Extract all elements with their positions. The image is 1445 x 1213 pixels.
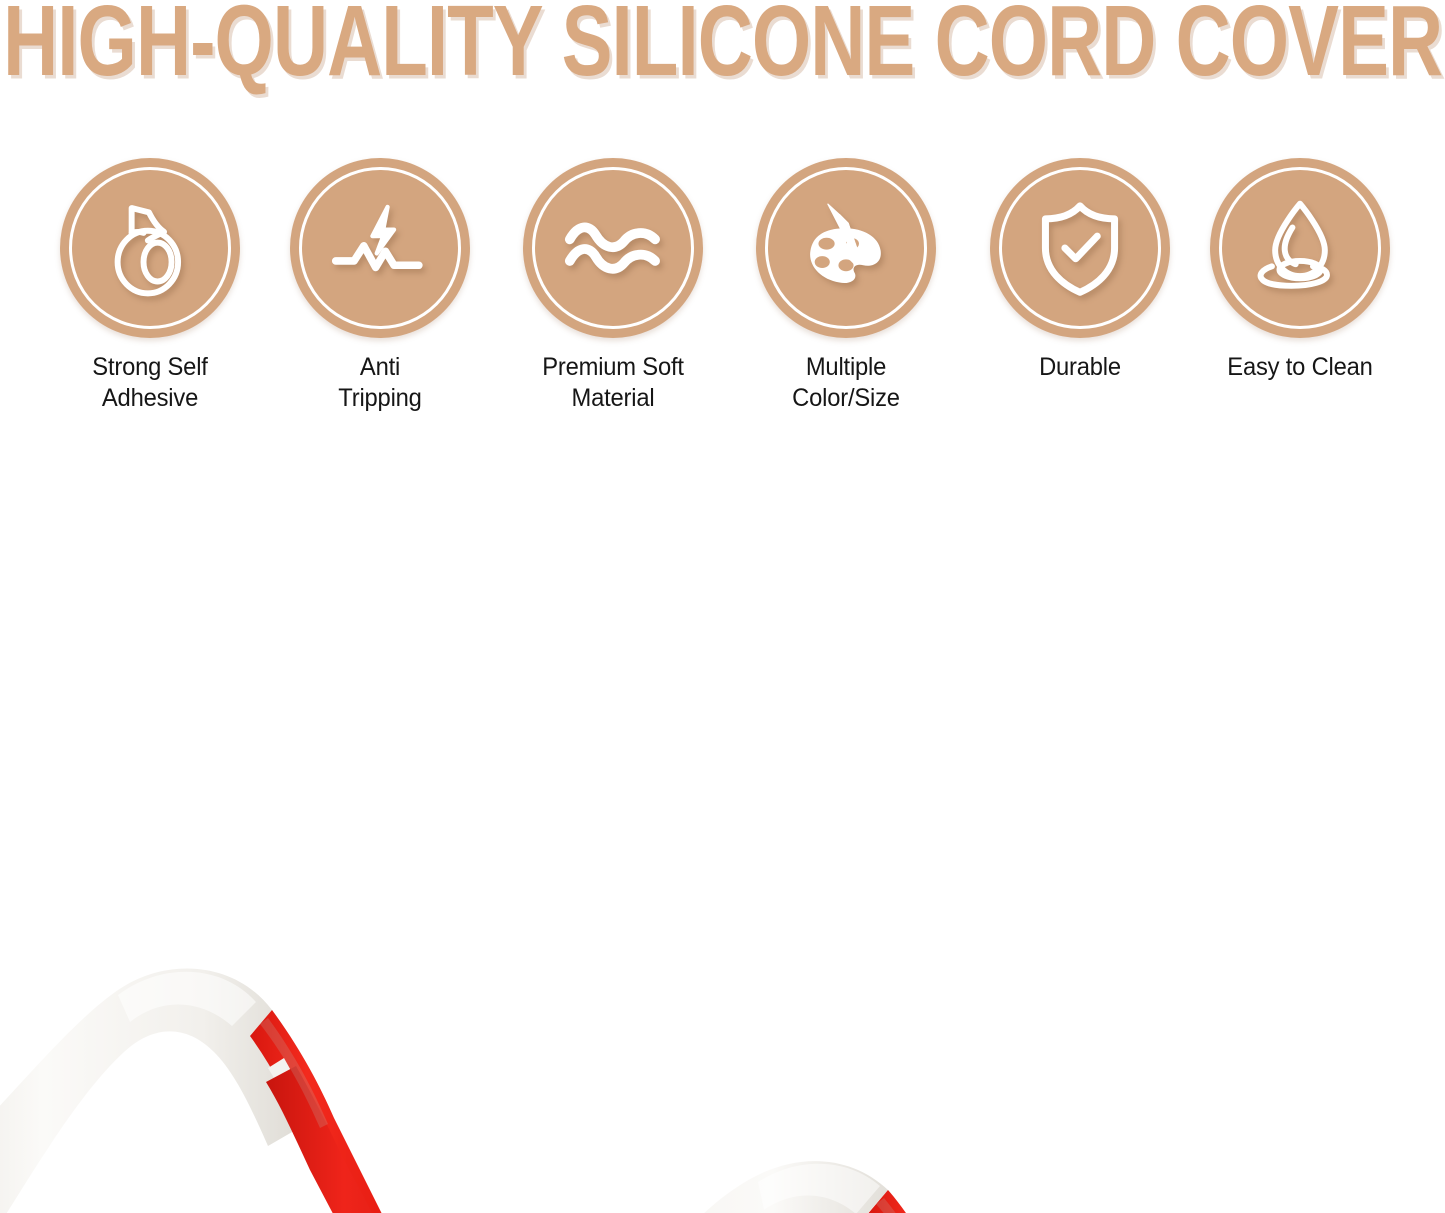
- feature-label: Premium Soft Material: [518, 352, 708, 414]
- feature-label-line2: Tripping: [285, 383, 475, 414]
- cord-segment-2: [600, 1161, 888, 1213]
- paint-palette-icon: [792, 194, 900, 302]
- feature-label-line2: Adhesive: [55, 383, 245, 414]
- feature-badge-circle: [1210, 158, 1390, 338]
- product-photo-silicone-cord-cover: [0, 470, 1445, 1213]
- feature-label-line1: Multiple: [751, 352, 941, 383]
- feature-item-anti-tripping: Anti Tripping: [280, 158, 480, 414]
- feature-badge-circle: [523, 158, 703, 338]
- feature-badge-row: Strong Self Adhesive Anti Tripping: [0, 158, 1445, 428]
- feature-label: Anti Tripping: [285, 352, 475, 414]
- feature-label-line2: Color/Size: [751, 383, 941, 414]
- feature-label: Easy to Clean: [1205, 352, 1395, 383]
- feature-label-line1: Durable: [985, 352, 1175, 383]
- feature-label-line2: Material: [518, 383, 708, 414]
- feature-badge-circle: [990, 158, 1170, 338]
- feature-item-easy-to-clean: Easy to Clean: [1200, 158, 1400, 383]
- cord-segment-2b: [866, 1190, 1248, 1213]
- cord-cover-illustration: [0, 470, 1445, 1213]
- feature-label: Durable: [985, 352, 1175, 383]
- feature-label-line1: Easy to Clean: [1205, 352, 1395, 383]
- feature-item-strong-self-adhesive: Strong Self Adhesive: [50, 158, 250, 414]
- wavy-lines-icon: [559, 194, 667, 302]
- cord-segment-1: [0, 968, 660, 1213]
- feature-badge-circle: [756, 158, 936, 338]
- shield-check-icon: [1026, 194, 1134, 302]
- feature-badge-circle: [60, 158, 240, 338]
- adhesive-roll-icon: [96, 194, 204, 302]
- feature-label-line1: Strong Self: [55, 352, 245, 383]
- feature-badge-circle: [290, 158, 470, 338]
- feature-item-durable: Durable: [980, 158, 1180, 383]
- page-title-text: HIGH-QUALITY SILICONE CORD COVER: [3, 0, 1442, 92]
- feature-label-line1: Premium Soft: [518, 352, 708, 383]
- feature-item-multiple-color-size: Multiple Color/Size: [746, 158, 946, 414]
- feature-label: Strong Self Adhesive: [55, 352, 245, 414]
- lightning-pulse-icon: [326, 194, 434, 302]
- page-title: HIGH-QUALITY SILICONE CORD COVER: [0, 0, 1445, 88]
- feature-item-premium-soft-material: Premium Soft Material: [513, 158, 713, 414]
- feature-label-line1: Anti: [285, 352, 475, 383]
- feature-label: Multiple Color/Size: [751, 352, 941, 414]
- water-droplet-ripple-icon: [1246, 194, 1354, 302]
